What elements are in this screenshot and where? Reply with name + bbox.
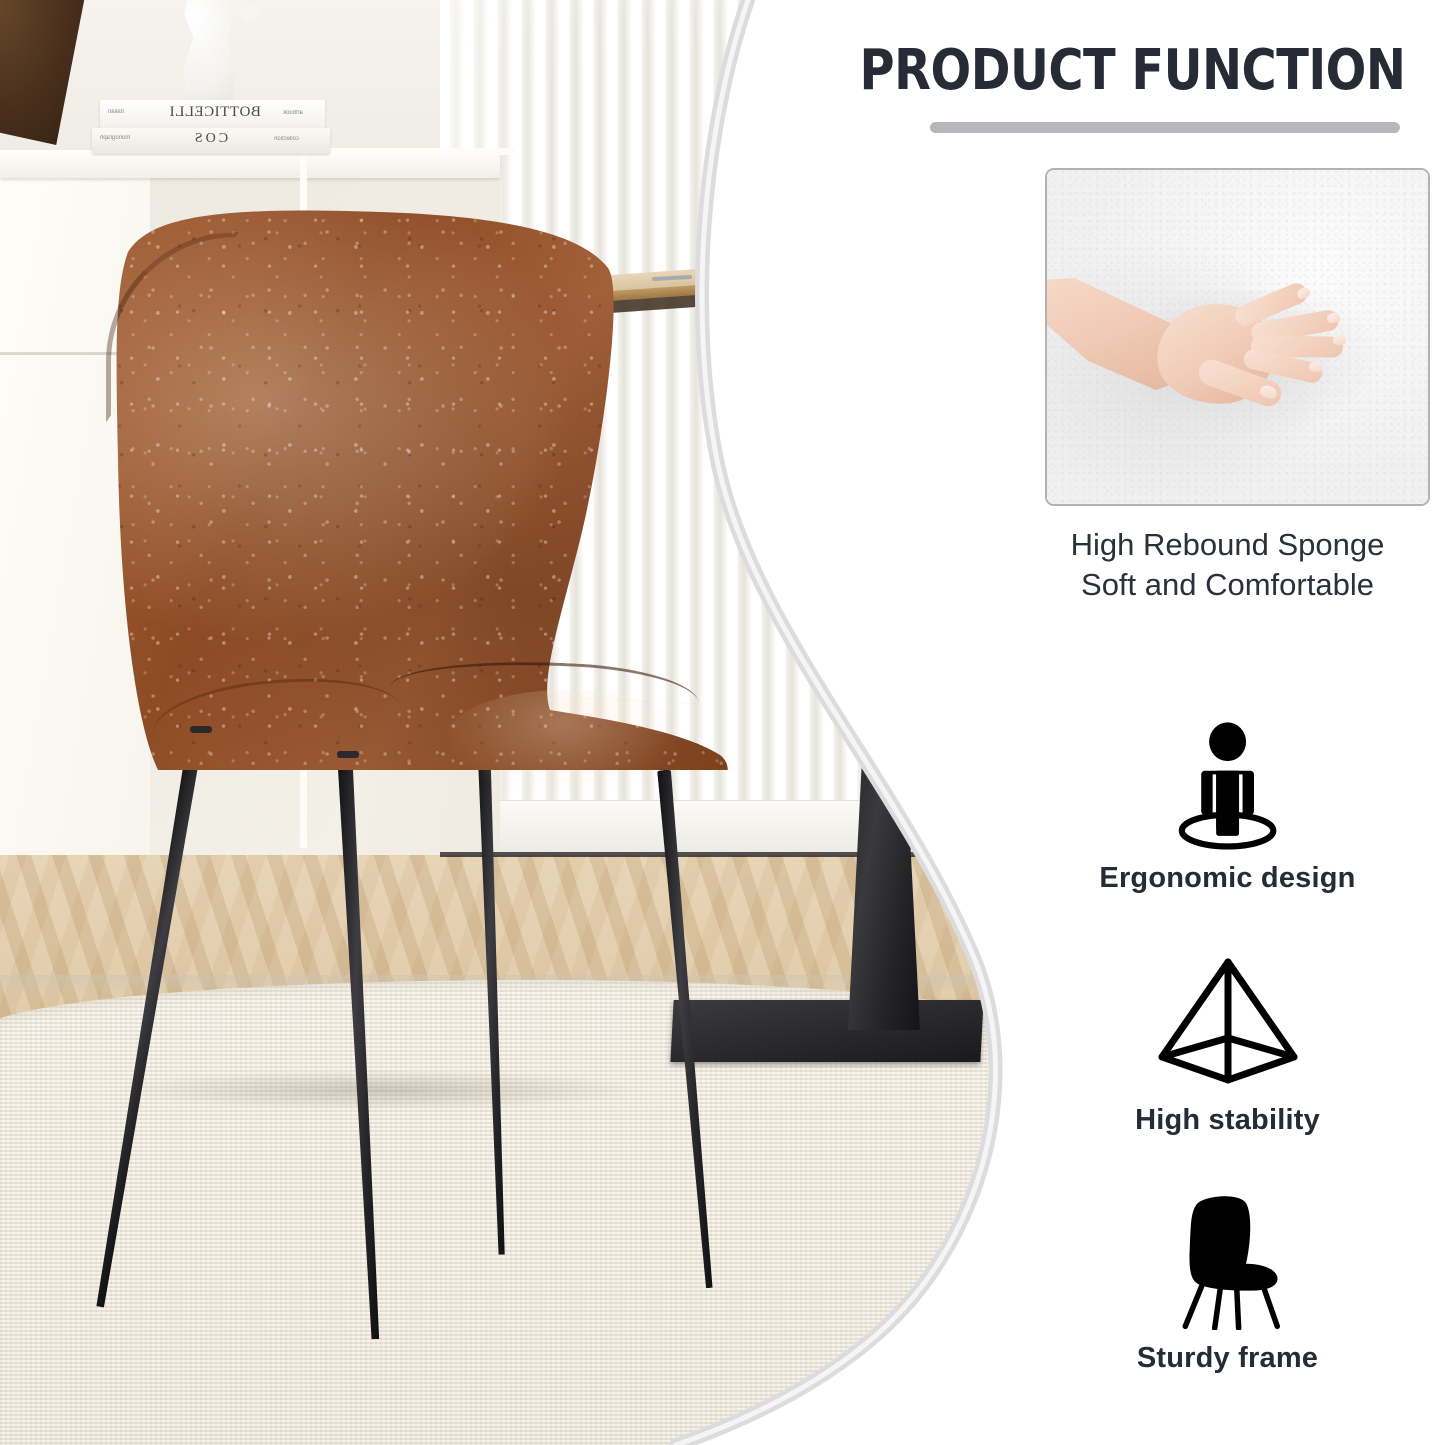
hand-graphic <box>1045 278 1367 418</box>
book-top-sub-left: Italian <box>108 109 124 115</box>
book-bottom-sub-right: collection <box>274 136 299 142</box>
chair-leg-front-right <box>335 750 385 1340</box>
page-title: PRODUCT FUNCTION <box>836 38 1430 103</box>
sponge-caption: High Rebound Sponge Soft and Comfortable <box>1010 525 1445 605</box>
title-divider-bar <box>930 122 1400 133</box>
chair-leg-joint-2 <box>337 751 359 758</box>
nail-ring <box>1333 335 1346 345</box>
sponge-caption-line-1: High Rebound Sponge <box>1010 525 1445 565</box>
feature-label: Sturdy frame <box>1010 1342 1445 1375</box>
book-top-sub-right: artbook <box>283 110 303 116</box>
wireframe-pyramid-icon <box>1153 952 1303 1092</box>
product-photo: BOTTICELLI COS Italian artbook monograph… <box>0 0 1010 1445</box>
chair-seat-highlight <box>440 690 690 800</box>
chair-leg-joint-1 <box>190 726 212 733</box>
table-pedestal-column <box>848 640 920 1030</box>
book-bottom-sub-left: monograph <box>100 135 130 141</box>
feature-high-stability: High stability <box>1010 952 1445 1137</box>
book-top-title: BOTTICELLI <box>140 104 290 121</box>
person-in-ring-icon <box>1166 718 1289 850</box>
book-bottom-title: COS <box>150 131 270 147</box>
feature-label: Ergonomic design <box>1010 862 1445 895</box>
bust-detail <box>240 4 260 22</box>
info-panel: PRODUCT FUNCTION High Re <box>1010 0 1445 1445</box>
chair-silhouette-icon <box>1154 1192 1301 1330</box>
infographic-canvas: BOTTICELLI COS Italian artbook monograph… <box>0 0 1445 1445</box>
feature-label: High stability <box>1010 1104 1445 1137</box>
nail-middle <box>1326 312 1341 324</box>
chair-leg-front-left <box>91 723 207 1308</box>
room-scene: BOTTICELLI COS Italian artbook monograph… <box>0 0 1010 1445</box>
sponge-caption-line-2: Soft and Comfortable <box>1010 565 1445 605</box>
feature-ergonomic-design: Ergonomic design <box>1010 718 1445 895</box>
hand-pressing-foam-photo <box>1045 168 1430 506</box>
chair-leg-rear-right <box>655 769 718 1289</box>
feature-sturdy-frame: Sturdy frame <box>1010 1192 1445 1375</box>
dining-chair <box>60 210 760 1330</box>
chair-leg-rear-left <box>475 735 510 1255</box>
